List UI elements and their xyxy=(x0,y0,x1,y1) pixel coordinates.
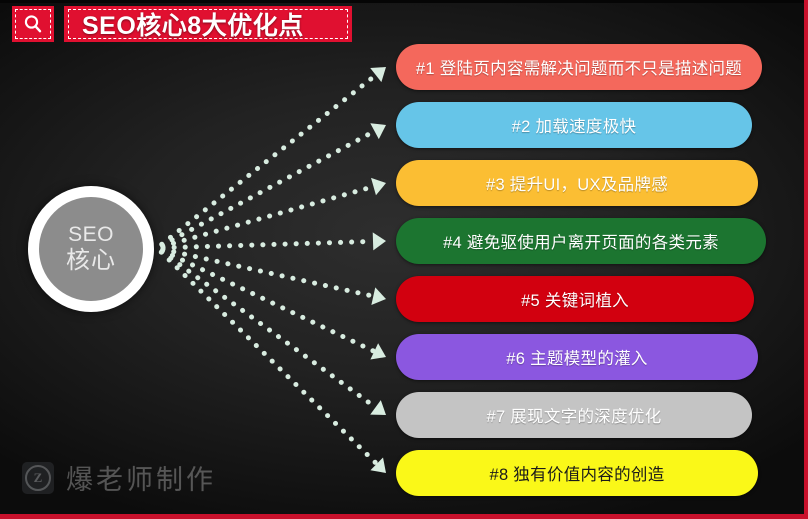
list-item-label: #8 独有价值内容的创造 xyxy=(489,461,664,485)
title-row: SEO核心8大优化点 xyxy=(12,6,352,42)
list-item[interactable]: #8 独有价值内容的创造 xyxy=(396,450,758,496)
list-item[interactable]: #4 避免驱使用户离开页面的各类元素 xyxy=(396,218,766,264)
list-item[interactable]: #2 加载速度极快 xyxy=(396,102,752,148)
list-item-label: #4 避免驱使用户离开页面的各类元素 xyxy=(443,229,719,253)
list-item-label: #3 提升UI，UX及品牌感 xyxy=(486,171,668,195)
list-item[interactable]: #1 登陆页内容需解决问题而不只是描述问题 xyxy=(396,44,762,90)
hub-label-primary: SEO xyxy=(68,223,114,247)
list-item[interactable]: #5 关键词植入 xyxy=(396,276,754,322)
slide-canvas: SEO核心8大优化点 SEO 核心 #1 登陆页内容需解决问题而不只是描述问题 … xyxy=(0,0,808,519)
title-banner: SEO核心8大优化点 xyxy=(64,6,352,42)
list-item[interactable]: #7 展现文字的深度优化 xyxy=(396,392,752,438)
hub-label-secondary: 核心 xyxy=(66,247,116,276)
watermark: Z 爆老师制作 xyxy=(22,458,216,497)
watermark-text: 爆老师制作 xyxy=(66,458,216,497)
search-badge[interactable] xyxy=(12,6,54,42)
right-edge-accent xyxy=(804,0,808,519)
bottom-edge-accent xyxy=(0,514,808,519)
optimization-list: #1 登陆页内容需解决问题而不只是描述问题 #2 加载速度极快 #3 提升UI，… xyxy=(396,44,776,508)
watermark-logo-letter: Z xyxy=(25,465,51,491)
seo-core-hub: SEO 核心 xyxy=(28,186,154,312)
watermark-logo-icon: Z xyxy=(22,462,54,494)
list-item[interactable]: #3 提升UI，UX及品牌感 xyxy=(396,160,758,206)
list-item-label: #2 加载速度极快 xyxy=(512,113,637,137)
list-item-label: #6 主题模型的灌入 xyxy=(506,345,647,369)
list-item-label: #7 展现文字的深度优化 xyxy=(486,403,661,427)
list-item-label: #1 登陆页内容需解决问题而不只是描述问题 xyxy=(416,55,742,79)
top-edge xyxy=(0,0,808,3)
list-item[interactable]: #6 主题模型的灌入 xyxy=(396,334,758,380)
page-title: SEO核心8大优化点 xyxy=(82,6,304,42)
list-item-label: #5 关键词植入 xyxy=(521,287,629,311)
search-icon xyxy=(22,13,44,35)
